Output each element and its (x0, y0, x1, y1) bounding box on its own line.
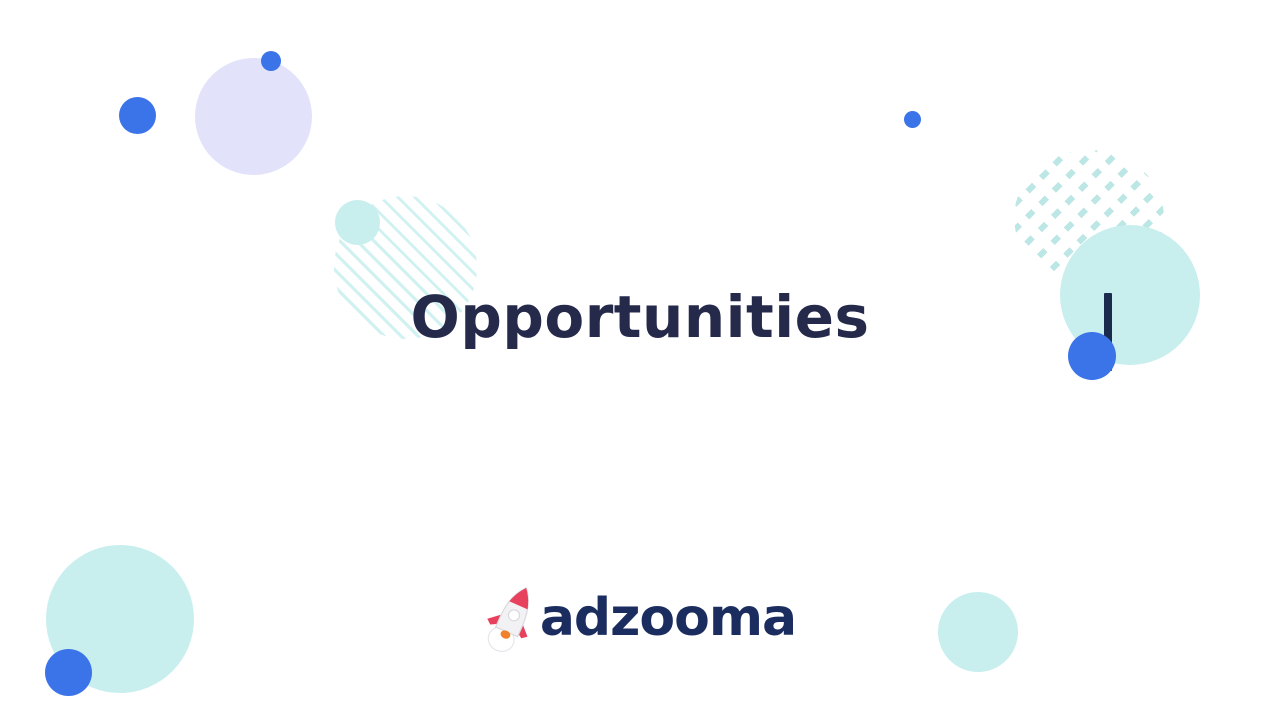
brand-logo: adzooma (0, 578, 1280, 658)
logo-wordmark: adzooma (540, 592, 796, 644)
blue-dot-left-decoration (119, 97, 156, 134)
teal-dot-small-decoration (335, 200, 380, 245)
slide-title: Opportunities (0, 288, 1280, 346)
blue-dot-small-right-decoration (904, 111, 921, 128)
rocket-icon (484, 578, 546, 658)
slide-canvas: Opportunities adzooma (0, 0, 1280, 720)
blue-dot-top-decoration (261, 51, 281, 71)
lavender-circle-decoration (195, 58, 312, 175)
